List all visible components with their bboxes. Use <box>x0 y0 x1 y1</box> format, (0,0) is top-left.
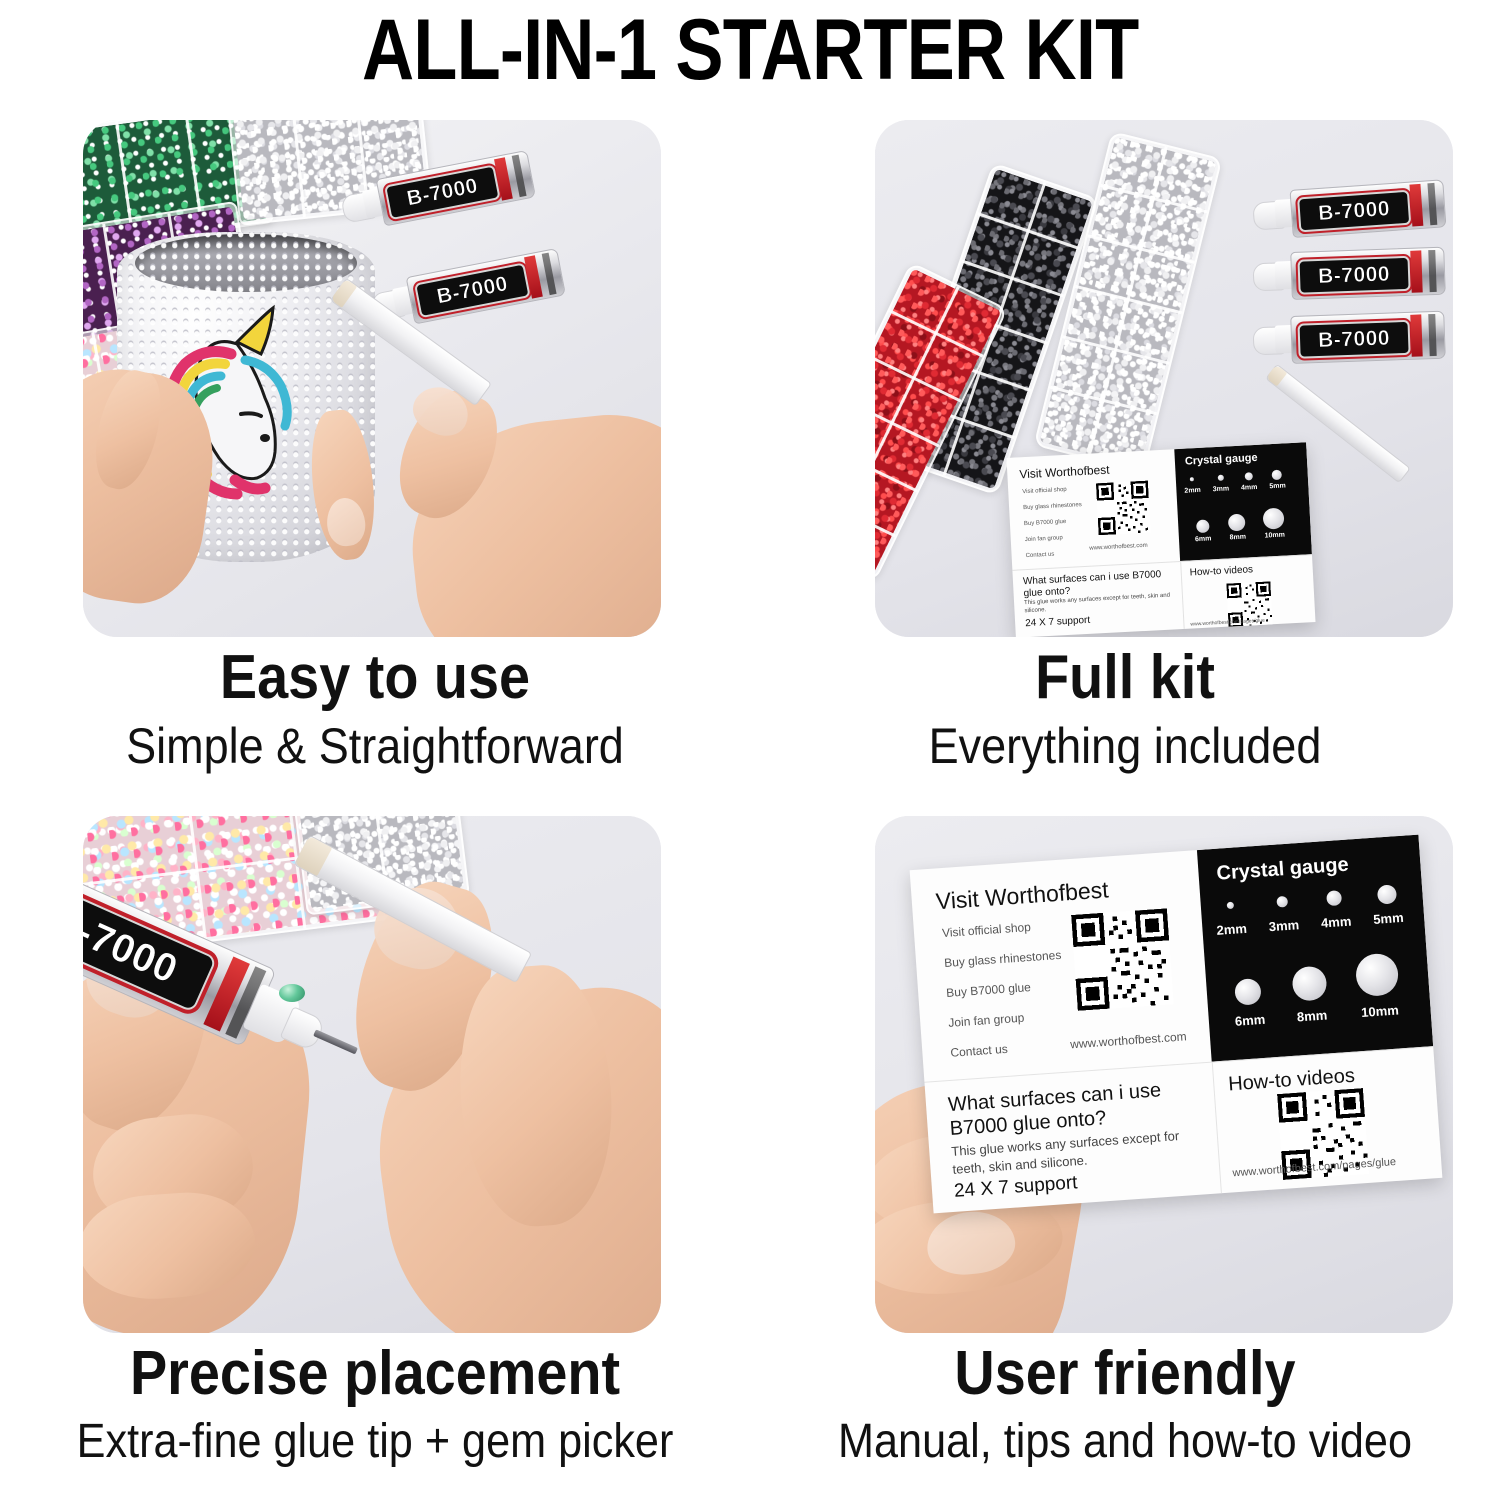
glue-label: B-7000 <box>1298 256 1411 295</box>
gauge-label: 10mm <box>1264 532 1285 540</box>
gauge-size-2mm: 2mm <box>1215 901 1248 938</box>
caption-subhead: Simple & Straightforward <box>38 718 713 776</box>
gauge-dot <box>1272 470 1283 481</box>
pencil-wax-tip <box>1266 364 1287 386</box>
panel-precise-placement: B-7000 <box>0 796 750 1492</box>
gauge-dot <box>1190 477 1194 481</box>
gauge-size-10mm: 10mm <box>1263 508 1286 540</box>
gauge-label: 5mm <box>1269 482 1286 490</box>
card-link-item: Buy glass rhinestones <box>1023 502 1082 511</box>
gauge-dot <box>1263 508 1285 530</box>
glue-tube: B-7000 <box>1252 179 1445 238</box>
card-visit-heading: Visit Worthofbest <box>1019 463 1110 482</box>
gauge-label: 3mm <box>1268 917 1299 934</box>
glue-dark-stripe <box>1428 250 1436 292</box>
gauge-title: Crystal gauge <box>1185 452 1258 468</box>
crystal-gauge: Crystal gauge 2mm 3mm <box>1174 442 1312 561</box>
photo-easy-to-use: B-7000 B-7000 <box>83 120 661 637</box>
gauge-label: 3mm <box>1213 485 1230 493</box>
glue-label-text: B-7000 <box>1318 326 1391 352</box>
glue-red-stripe <box>1409 184 1423 227</box>
glue-body: B-7000 <box>1290 179 1447 238</box>
glue-label-text: B-7000 <box>1318 262 1391 288</box>
gauge-size-5mm: 5mm <box>1269 469 1286 490</box>
glue-dark-stripe <box>512 155 527 198</box>
glue-label: B-7000 <box>1298 320 1411 359</box>
card-videos-heading: How-to videos <box>1189 564 1253 578</box>
caption-precise-placement: Precise placement Extra-fine glue tip + … <box>0 1341 750 1469</box>
gauge-size-3mm: 3mm <box>1212 474 1229 493</box>
feature-grid: B-7000 B-7000 <box>0 100 1500 1493</box>
gauge-label: 6mm <box>1195 535 1212 543</box>
card-link-item: Contact us <box>1026 552 1055 559</box>
gauge-label: 4mm <box>1321 914 1352 931</box>
card-support-heading: 24 X 7 support <box>1025 615 1091 629</box>
glue-tube: B-7000 <box>1252 247 1443 300</box>
card-visit-heading: Visit Worthofbest <box>935 876 1109 915</box>
qr-code-shop[interactable] <box>1096 481 1151 536</box>
gauge-dot <box>1234 978 1262 1006</box>
card-link-item: Join fan group <box>948 1011 1025 1030</box>
photo-user-friendly: Visit Worthofbest Visit official shop Bu… <box>875 816 1453 1333</box>
gauge-label: 4mm <box>1241 484 1258 492</box>
caption-subhead: Everything included <box>788 718 1463 776</box>
gauge-label: 5mm <box>1373 910 1404 927</box>
panel-user-friendly: Visit Worthofbest Visit official shop Bu… <box>750 796 1500 1492</box>
glue-body: B-7000 <box>1290 311 1446 364</box>
glue-label-text: B-7000 <box>1317 197 1390 226</box>
photo-precise-placement: B-7000 <box>83 816 661 1333</box>
gauge-dot <box>1244 472 1252 480</box>
gauge-label: 2mm <box>1184 487 1201 495</box>
glue-tube: B-7000 <box>1252 311 1443 364</box>
glue-dark-stripe <box>1428 314 1436 356</box>
gauge-size-3mm: 3mm <box>1267 895 1300 934</box>
green-rhinestone <box>279 984 305 1002</box>
card-link-item: Buy B7000 glue <box>1024 519 1067 527</box>
gauge-dot <box>1326 890 1342 906</box>
card-link-item: Contact us <box>950 1042 1008 1060</box>
glue-red-stripe <box>1410 250 1422 292</box>
page-title: ALL-IN-1 STARTER KIT <box>362 7 1138 93</box>
gauge-size-6mm: 6mm <box>1232 978 1266 1029</box>
card-support-heading: 24 X 7 support <box>953 1172 1078 1203</box>
card-link-item: Buy glass rhinestones <box>944 948 1062 970</box>
card-shop-url: www.worthofbest.com <box>1089 543 1148 552</box>
caption-headline: Full kit <box>788 645 1463 712</box>
gauge-size-4mm: 4mm <box>1319 890 1352 931</box>
gauge-label: 8mm <box>1229 534 1246 542</box>
gauge-label: 6mm <box>1234 1012 1265 1029</box>
crystal-gauge: Crystal gauge 2mm 3mm <box>1197 835 1433 1062</box>
photo-full-kit: B-7000 B-7000 <box>875 120 1453 637</box>
gauge-label: 10mm <box>1361 1002 1400 1020</box>
gauge-size-4mm: 4mm <box>1240 472 1257 492</box>
glue-label: B-7000 <box>414 262 531 318</box>
gauge-size-6mm: 6mm <box>1194 519 1212 543</box>
caption-subhead: Manual, tips and how-to video <box>788 1414 1463 1469</box>
gauge-dot <box>1228 514 1246 532</box>
glue-body: B-7000 <box>1290 247 1446 300</box>
gauge-dot <box>1217 475 1223 481</box>
gauge-dot <box>1276 896 1288 908</box>
glue-dark-stripe <box>1427 183 1437 225</box>
glue-red-stripe <box>1410 314 1422 356</box>
caption-subhead: Extra-fine glue tip + gem picker <box>38 1414 713 1469</box>
caption-user-friendly: User friendly Manual, tips and how-to vi… <box>750 1341 1500 1469</box>
gauge-label: 2mm <box>1216 921 1247 938</box>
caption-full-kit: Full kit Everything included <box>750 645 1500 775</box>
gauge-dot <box>1196 519 1210 533</box>
caption-headline: User friendly <box>788 1341 1463 1408</box>
glue-body: B-7000 <box>406 248 566 325</box>
card-link-item: Join fan group <box>1025 535 1063 543</box>
card-link-item: Visit official shop <box>942 920 1032 940</box>
gauge-size-5mm: 5mm <box>1371 884 1404 927</box>
caption-headline: Easy to use <box>38 645 713 712</box>
gauge-size-2mm: 2mm <box>1184 477 1201 495</box>
glue-label: B-7000 <box>1297 190 1411 233</box>
card-link-item: Buy B7000 glue <box>946 980 1032 1000</box>
gauge-label: 8mm <box>1296 1007 1327 1024</box>
gauge-dot <box>1377 884 1397 904</box>
glue-dark-stripe <box>542 253 557 296</box>
caption-headline: Precise placement <box>38 1341 713 1408</box>
gauge-dot <box>1226 902 1233 909</box>
gauge-size-8mm: 8mm <box>1292 965 1330 1024</box>
gauge-dot <box>1355 952 1400 997</box>
gauge-title: Crystal gauge <box>1216 854 1350 886</box>
gauge-dot <box>1292 965 1328 1001</box>
info-card: Visit Worthofbest Visit official shop Bu… <box>1006 442 1315 637</box>
qr-code-shop[interactable] <box>1071 908 1173 1010</box>
header: ALL-IN-1 STARTER KIT <box>0 0 1500 100</box>
extra-fine-needle-tip <box>313 1029 358 1054</box>
gauge-size-10mm: 10mm <box>1355 952 1401 1020</box>
panel-easy-to-use: B-7000 B-7000 <box>0 100 750 796</box>
glue-label-text: B-7000 <box>405 174 480 211</box>
gauge-size-8mm: 8mm <box>1228 514 1246 542</box>
card-shop-url: www.worthofbest.com <box>1070 1029 1187 1051</box>
panel-full-kit: B-7000 B-7000 <box>750 100 1500 796</box>
card-link-item: Visit official shop <box>1022 487 1067 495</box>
info-card: Visit Worthofbest Visit official shop Bu… <box>910 835 1443 1214</box>
caption-easy-to-use: Easy to use Simple & Straightforward <box>0 645 750 775</box>
glue-label-text: B-7000 <box>435 272 510 309</box>
